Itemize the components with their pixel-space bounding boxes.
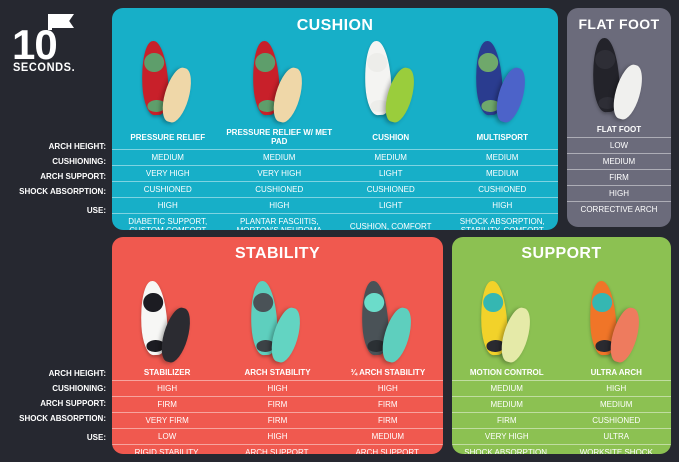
cell-use: CUSHION, COMFORT <box>335 214 447 231</box>
spec-table-cushion: PRESSURE RELIEFPRESSURE RELIEF W/ MET PA… <box>112 125 558 230</box>
table-row-cushioning: MEDIUMMEDIUM <box>452 397 671 413</box>
product-image <box>222 265 332 365</box>
cell-arch-height: MEDIUM <box>335 150 447 166</box>
product-image <box>562 265 672 365</box>
row-label-shock-absorption: SHOCK ABSORPTION: <box>0 184 106 199</box>
table-row-header: FLAT FOOT <box>567 122 671 138</box>
cell-cushioning: FIRM <box>333 397 443 413</box>
panel-stability: STABILITY STABILIZERARCH STABILITY¾ ARCH… <box>112 237 443 454</box>
table-row-shock-absorption: HIGH <box>567 186 671 202</box>
insole-arch-pad <box>364 292 385 312</box>
cell-cushioning: MEDIUM <box>447 166 559 182</box>
row-labels-bottom: ARCH HEIGHT: CUSHIONING: ARCH SUPPORT: S… <box>0 366 106 446</box>
product-images-support <box>452 265 671 365</box>
product-image <box>224 37 336 125</box>
spec-table-stability: STABILIZERARCH STABILITY¾ ARCH STABILITY… <box>112 365 443 454</box>
cell-shock-absorption: LOW <box>112 429 222 445</box>
table-row-arch-support: CUSHIONEDCUSHIONEDCUSHIONEDCUSHIONED <box>112 182 558 198</box>
cell-use: SHOCK ABSORPTION,COMFORT, STABILITY <box>452 445 562 455</box>
column-header: STABILIZER <box>112 365 222 381</box>
table-row-header: PRESSURE RELIEFPRESSURE RELIEF W/ MET PA… <box>112 125 558 150</box>
row-label-use: USE: <box>0 426 106 446</box>
cell-arch-support: VERY FIRM <box>112 413 222 429</box>
column-header: ULTRA ARCH <box>562 365 672 381</box>
column-header: ¾ ARCH STABILITY <box>333 365 443 381</box>
cell-arch-support: FIRM <box>333 413 443 429</box>
row-labels-top: ARCH HEIGHT: CUSHIONING: ARCH SUPPORT: S… <box>0 139 106 219</box>
spec-table-flat-foot: FLAT FOOTLOWMEDIUMFIRMHIGHCORRECTIVE ARC… <box>567 122 671 218</box>
table-row-shock-absorption: VERY HIGHULTRA <box>452 429 671 445</box>
table-row-use: SHOCK ABSORPTION,COMFORT, STABILITYWORKS… <box>452 445 671 455</box>
insole-arch-pad <box>143 292 164 312</box>
column-header: ARCH STABILITY <box>222 365 332 381</box>
cell-cushioning: VERY HIGH <box>112 166 224 182</box>
cell-arch-support: FIRM <box>452 413 562 429</box>
table-row-arch-support: FIRMCUSHIONED <box>452 413 671 429</box>
cell-use: PLANTAR FASCIITIS,MORTON'S NEUROMA <box>224 214 336 231</box>
table-row-arch-height: HIGHHIGHHIGH <box>112 381 443 397</box>
table-row-shock-absorption: LOWHIGHMEDIUM <box>112 429 443 445</box>
cell-cushioning: MEDIUM <box>562 397 672 413</box>
cell-arch-support: CUSHIONED <box>335 182 447 198</box>
insole-arch-pad <box>253 292 274 312</box>
column-header: FLAT FOOT <box>567 122 671 138</box>
insole-arch-pad <box>592 292 613 312</box>
cell-use: CORRECTIVE ARCH <box>567 202 671 219</box>
product-image <box>447 37 559 125</box>
insole-arch-pad <box>595 49 616 69</box>
column-header: PRESSURE RELIEF <box>112 125 224 150</box>
panel-support: SUPPORT MOTION CONTROLULTRA ARCHMEDIUMHI… <box>452 237 671 454</box>
insole-arch-pad <box>478 52 499 72</box>
cell-use: RIGID STABILITY,ARCH SUPPORT <box>112 445 222 455</box>
panel-title-cushion: CUSHION <box>112 8 558 35</box>
row-label-arch-support: ARCH SUPPORT: <box>0 396 106 411</box>
cell-shock-absorption: HIGH <box>112 198 224 214</box>
insole-arch-pad <box>255 52 276 72</box>
table-row-use: CORRECTIVE ARCH <box>567 202 671 219</box>
cell-shock-absorption: VERY HIGH <box>452 429 562 445</box>
cell-shock-absorption: ULTRA <box>562 429 672 445</box>
product-image <box>335 37 447 125</box>
cell-arch-support: CUSHIONED <box>562 413 672 429</box>
cell-arch-height: MEDIUM <box>447 150 559 166</box>
cell-cushioning: LIGHT <box>335 166 447 182</box>
cell-shock-absorption: LIGHT <box>335 198 447 214</box>
insole-arch-pad <box>367 52 388 72</box>
cell-arch-support: CUSHIONED <box>447 182 559 198</box>
column-header: CUSHION <box>335 125 447 150</box>
table-row-arch-height: MEDIUMMEDIUMMEDIUMMEDIUM <box>112 150 558 166</box>
cell-arch-height: MEDIUM <box>112 150 224 166</box>
row-label-cushioning: CUSHIONING: <box>0 154 106 169</box>
cell-use: DIABETIC SUPPORT,CUSTOM COMFORT <box>112 214 224 231</box>
table-row-header: STABILIZERARCH STABILITY¾ ARCH STABILITY <box>112 365 443 381</box>
product-image <box>333 265 443 365</box>
cell-cushioning: VERY HIGH <box>224 166 336 182</box>
table-row-arch-support: FIRM <box>567 170 671 186</box>
panel-title-support: SUPPORT <box>452 237 671 263</box>
cell-shock-absorption: MEDIUM <box>333 429 443 445</box>
brand-word: SECONDS. <box>13 63 75 75</box>
panel-cushion: CUSHION PRESSURE RELIEFPRESSURE RELIEF W… <box>112 8 558 230</box>
cell-use: ARCH SUPPORT,SHOCK ABSORPTION <box>222 445 332 455</box>
product-image <box>112 37 224 125</box>
product-images-cushion <box>112 37 558 125</box>
table-row-cushioning: VERY HIGHVERY HIGHLIGHTMEDIUM <box>112 166 558 182</box>
table-row-arch-height: LOW <box>567 138 671 154</box>
product-image <box>567 34 671 122</box>
table-row-shock-absorption: HIGHHIGHLIGHTHIGH <box>112 198 558 214</box>
product-images-stability <box>112 265 443 365</box>
table-row-header: MOTION CONTROLULTRA ARCH <box>452 365 671 381</box>
cell-cushioning: FIRM <box>112 397 222 413</box>
row-label-use: USE: <box>0 199 106 219</box>
cell-shock-absorption: HIGH <box>224 198 336 214</box>
panel-title-stability: STABILITY <box>112 237 443 263</box>
cell-arch-support: CUSHIONED <box>224 182 336 198</box>
cell-arch-height: LOW <box>567 138 671 154</box>
cell-arch-height: MEDIUM <box>452 381 562 397</box>
brand-logo: 10 SECONDS. <box>12 14 84 76</box>
cell-cushioning: FIRM <box>222 397 332 413</box>
row-label-cushioning: CUSHIONING: <box>0 381 106 396</box>
cell-use: WORKSITE SHOCKABSORPTION <box>562 445 672 455</box>
spec-table-support: MOTION CONTROLULTRA ARCHMEDIUMHIGHMEDIUM… <box>452 365 671 454</box>
table-row-use: RIGID STABILITY,ARCH SUPPORTARCH SUPPORT… <box>112 445 443 455</box>
brand-number: 10 <box>12 24 57 66</box>
table-row-use: DIABETIC SUPPORT,CUSTOM COMFORTPLANTAR F… <box>112 214 558 231</box>
panel-flat-foot: FLAT FOOT FLAT FOOTLOWMEDIUMFIRMHIGHCORR… <box>567 8 671 227</box>
cell-shock-absorption: HIGH <box>567 186 671 202</box>
table-row-arch-height: MEDIUMHIGH <box>452 381 671 397</box>
panel-title-flat-foot: FLAT FOOT <box>567 8 671 32</box>
cell-use: ARCH SUPPORT,SHOCK ABSORPTION <box>333 445 443 455</box>
cell-use: SHOCK ABSORPTION,STABILITY, COMFORT <box>447 214 559 231</box>
row-label-arch-height: ARCH HEIGHT: <box>0 366 106 381</box>
cell-arch-height: HIGH <box>562 381 672 397</box>
table-row-arch-support: VERY FIRMFIRMFIRM <box>112 413 443 429</box>
cell-arch-support: FIRM <box>222 413 332 429</box>
column-header: MULTISPORT <box>447 125 559 150</box>
cell-arch-support: CUSHIONED <box>112 182 224 198</box>
cell-arch-height: HIGH <box>222 381 332 397</box>
product-image <box>112 265 222 365</box>
cell-shock-absorption: HIGH <box>222 429 332 445</box>
cell-arch-support: FIRM <box>567 170 671 186</box>
cell-arch-height: HIGH <box>112 381 222 397</box>
cell-cushioning: MEDIUM <box>452 397 562 413</box>
table-row-cushioning: MEDIUM <box>567 154 671 170</box>
column-header: PRESSURE RELIEF W/ MET PAD <box>224 125 336 150</box>
row-label-arch-support: ARCH SUPPORT: <box>0 169 106 184</box>
product-image <box>452 265 562 365</box>
cell-cushioning: MEDIUM <box>567 154 671 170</box>
table-row-cushioning: FIRMFIRMFIRM <box>112 397 443 413</box>
cell-shock-absorption: HIGH <box>447 198 559 214</box>
cell-arch-height: MEDIUM <box>224 150 336 166</box>
column-header: MOTION CONTROL <box>452 365 562 381</box>
insole-arch-pad <box>144 52 165 72</box>
product-images-flat-foot <box>567 34 671 122</box>
row-label-shock-absorption: SHOCK ABSORPTION: <box>0 411 106 426</box>
insole-arch-pad <box>483 292 504 312</box>
cell-arch-height: HIGH <box>333 381 443 397</box>
row-label-arch-height: ARCH HEIGHT: <box>0 139 106 154</box>
